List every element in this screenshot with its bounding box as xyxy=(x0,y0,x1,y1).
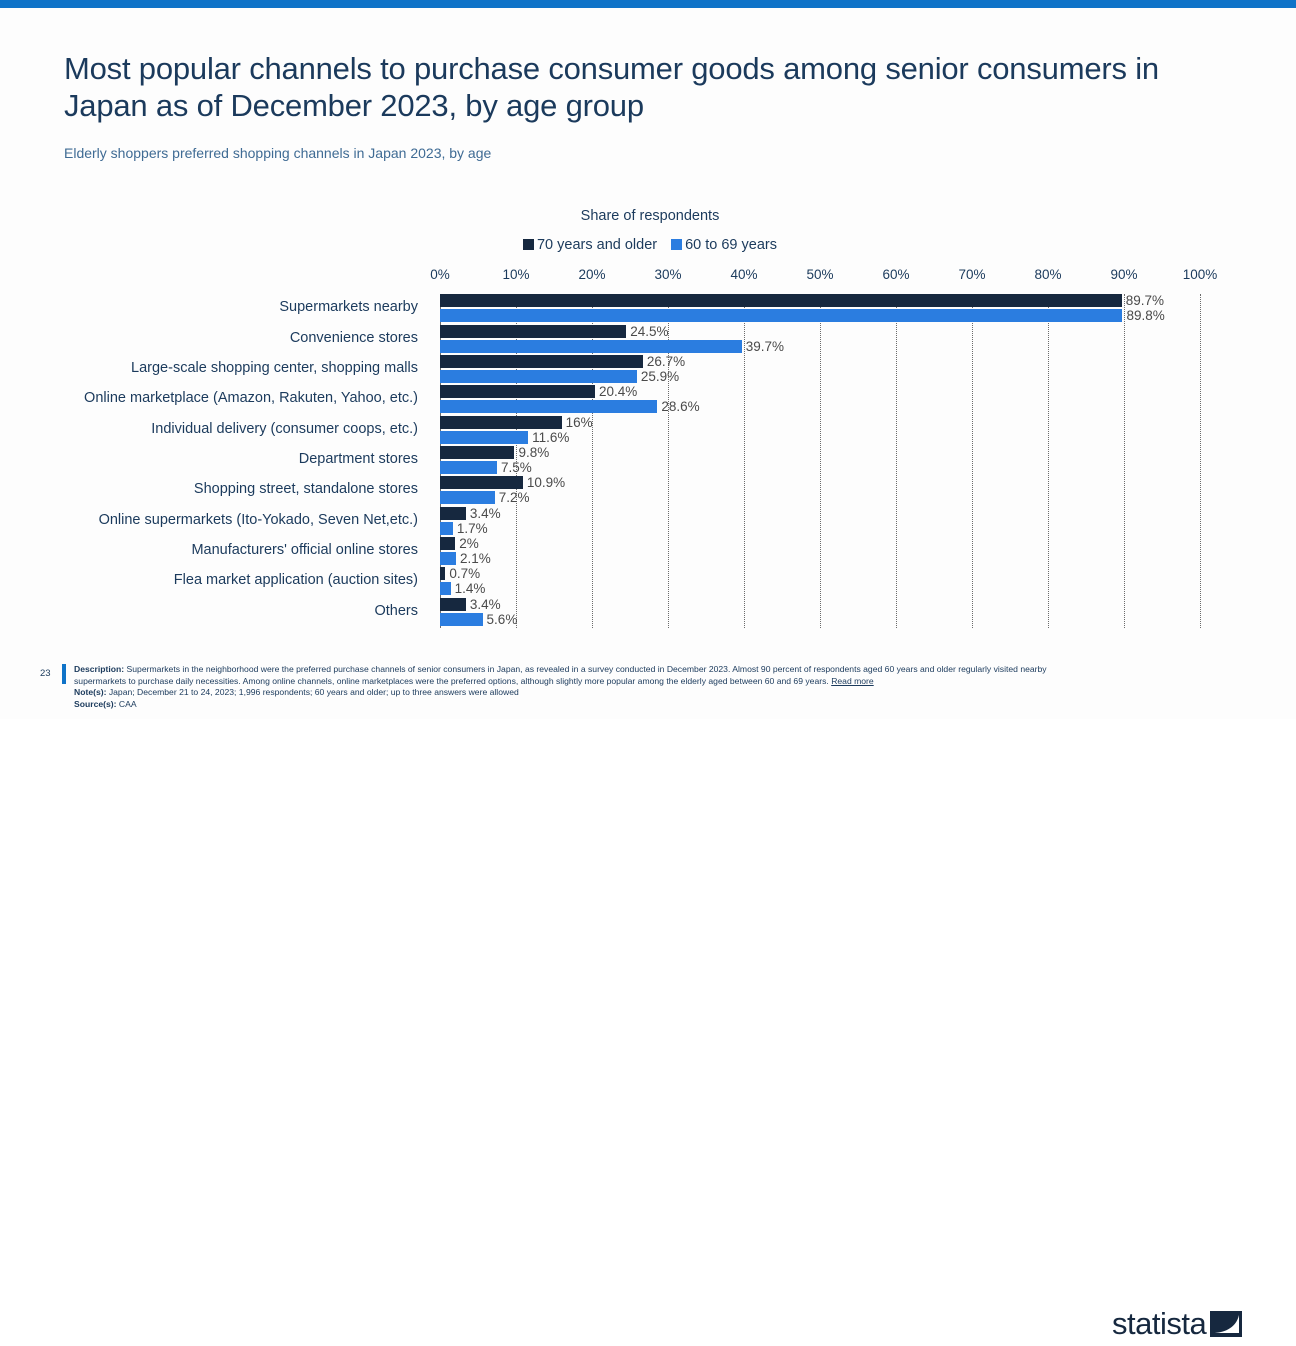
bar-younger[interactable] xyxy=(440,582,451,595)
x-axis-ticks: 0%10%20%30%40%50%60%70%80%90%100% xyxy=(0,267,1296,287)
bar-group: 10.9%7.2% xyxy=(440,476,1200,506)
gridline xyxy=(1200,294,1201,628)
x-tick-label: 60% xyxy=(882,267,909,282)
bar-value-label: 11.6% xyxy=(532,431,569,444)
bar-older[interactable] xyxy=(440,325,626,338)
chart-legend: 70 years and older60 to 69 years xyxy=(440,237,860,253)
bar-older[interactable] xyxy=(440,598,466,611)
bar-older[interactable] xyxy=(440,355,643,368)
bar-younger[interactable] xyxy=(440,491,495,504)
notes-label: Note(s): xyxy=(74,687,106,697)
category-label: Others xyxy=(374,603,418,619)
bar-younger[interactable] xyxy=(440,613,483,626)
x-tick-label: 20% xyxy=(578,267,605,282)
bar-group: 26.7%25.9% xyxy=(440,355,1200,385)
bar-value-label: 39.7% xyxy=(746,340,784,353)
description-label: Description: xyxy=(74,664,124,674)
bar-older[interactable] xyxy=(440,476,523,489)
footer-notes: Description: Supermarkets in the neighbo… xyxy=(74,664,1054,710)
category-label: Supermarkets nearby xyxy=(279,299,418,315)
bar-value-label: 25.9% xyxy=(641,370,679,383)
bar-value-label: 7.5% xyxy=(501,461,532,474)
bar-younger[interactable] xyxy=(440,461,497,474)
bar-older[interactable] xyxy=(440,385,595,398)
bar-younger[interactable] xyxy=(440,400,657,413)
category-label: Online supermarkets (Ito-Yokado, Seven N… xyxy=(99,512,418,528)
bar-older[interactable] xyxy=(440,567,445,580)
x-tick-label: 10% xyxy=(502,267,529,282)
description-text: Supermarkets in the neighborhood were th… xyxy=(74,664,1047,686)
bar-value-label: 28.6% xyxy=(661,400,699,413)
bar-value-label: 1.4% xyxy=(455,582,486,595)
bar-older[interactable] xyxy=(440,507,466,520)
category-labels: Supermarkets nearbyConvenience storesLar… xyxy=(60,294,430,628)
footer-accent-bar xyxy=(62,664,66,684)
footer-source: Source(s): CAA xyxy=(74,699,1054,711)
bar-younger[interactable] xyxy=(440,309,1122,322)
bar-value-label: 20.4% xyxy=(599,385,637,398)
bar-chart: Share of respondents 70 years and older6… xyxy=(0,203,1296,648)
bar-group: 16%11.6% xyxy=(440,416,1200,446)
slide-page: Most popular channels to purchase consum… xyxy=(0,8,1296,719)
category-label: Flea market application (auction sites) xyxy=(174,572,418,588)
bar-younger[interactable] xyxy=(440,431,528,444)
plot-area: 89.7%89.8%24.5%39.7%26.7%25.9%20.4%28.6%… xyxy=(440,294,1200,628)
bar-value-label: 1.7% xyxy=(457,522,488,535)
bar-group: 2%2.1% xyxy=(440,537,1200,567)
bar-value-label: 2% xyxy=(459,537,479,550)
notes-text: Japan; December 21 to 24, 2023; 1,996 re… xyxy=(106,687,518,697)
top-accent-bar xyxy=(0,0,1296,8)
bar-younger[interactable] xyxy=(440,522,453,535)
x-tick-label: 50% xyxy=(806,267,833,282)
statista-wordmark: statista xyxy=(1112,1306,1206,1341)
bar-group: 9.8%7.5% xyxy=(440,446,1200,476)
bar-younger[interactable] xyxy=(440,340,742,353)
x-tick-label: 30% xyxy=(654,267,681,282)
page-number: 23 xyxy=(40,668,51,679)
bar-value-label: 24.5% xyxy=(630,325,668,338)
legend-item-1[interactable]: 60 to 69 years xyxy=(671,237,777,253)
bar-group: 3.4%5.6% xyxy=(440,598,1200,628)
page-subtitle: Elderly shoppers preferred shopping chan… xyxy=(64,145,1064,161)
bar-group: 20.4%28.6% xyxy=(440,385,1200,415)
statista-logo: statista xyxy=(1112,1306,1252,1346)
category-label: Shopping street, standalone stores xyxy=(194,481,418,497)
bar-group: 3.4%1.7% xyxy=(440,507,1200,537)
read-more-link[interactable]: Read more xyxy=(831,676,874,686)
bar-group: 0.7%1.4% xyxy=(440,567,1200,597)
bar-value-label: 2.1% xyxy=(460,552,491,565)
bar-older[interactable] xyxy=(440,416,562,429)
legend-swatch-icon xyxy=(523,239,534,250)
bar-value-label: 16% xyxy=(566,416,593,429)
bar-older[interactable] xyxy=(440,446,514,459)
category-label: Convenience stores xyxy=(290,330,418,346)
chart-axis-title: Share of respondents xyxy=(440,208,860,224)
legend-label: 60 to 69 years xyxy=(685,237,777,253)
category-label: Large-scale shopping center, shopping ma… xyxy=(131,360,418,376)
bar-value-label: 3.4% xyxy=(470,598,501,611)
bar-value-label: 3.4% xyxy=(470,507,501,520)
bar-value-label: 89.8% xyxy=(1126,309,1164,322)
x-tick-label: 90% xyxy=(1110,267,1137,282)
bar-younger[interactable] xyxy=(440,370,637,383)
source-text: CAA xyxy=(117,699,137,709)
bar-older[interactable] xyxy=(440,294,1122,307)
bar-value-label: 10.9% xyxy=(527,476,565,489)
bar-value-label: 5.6% xyxy=(487,613,518,626)
x-tick-label: 100% xyxy=(1183,267,1218,282)
category-label: Individual delivery (consumer coops, etc… xyxy=(151,421,418,437)
legend-item-0[interactable]: 70 years and older xyxy=(523,237,657,253)
source-label: Source(s): xyxy=(74,699,117,709)
bar-value-label: 7.2% xyxy=(499,491,530,504)
bar-value-label: 89.7% xyxy=(1126,294,1164,307)
x-tick-label: 80% xyxy=(1034,267,1061,282)
legend-label: 70 years and older xyxy=(537,237,657,253)
bar-value-label: 9.8% xyxy=(518,446,549,459)
category-label: Online marketplace (Amazon, Rakuten, Yah… xyxy=(84,390,418,406)
page-title: Most popular channels to purchase consum… xyxy=(64,50,1184,124)
legend-swatch-icon xyxy=(671,239,682,250)
bar-group: 24.5%39.7% xyxy=(440,325,1200,355)
footer-description: Description: Supermarkets in the neighbo… xyxy=(74,664,1054,687)
statista-mark-icon xyxy=(1210,1311,1242,1337)
category-label: Department stores xyxy=(299,451,418,467)
bar-younger[interactable] xyxy=(440,552,456,565)
bar-older[interactable] xyxy=(440,537,455,550)
bar-value-label: 0.7% xyxy=(449,567,480,580)
bar-value-label: 26.7% xyxy=(647,355,685,368)
category-label: Manufacturers' official online stores xyxy=(191,542,418,558)
bar-group: 89.7%89.8% xyxy=(440,294,1200,324)
x-tick-label: 40% xyxy=(730,267,757,282)
x-tick-label: 70% xyxy=(958,267,985,282)
footer-note: Note(s): Japan; December 21 to 24, 2023;… xyxy=(74,687,1054,699)
x-tick-label: 0% xyxy=(430,267,450,282)
footer: 23 Description: Supermarkets in the neig… xyxy=(0,656,1296,727)
